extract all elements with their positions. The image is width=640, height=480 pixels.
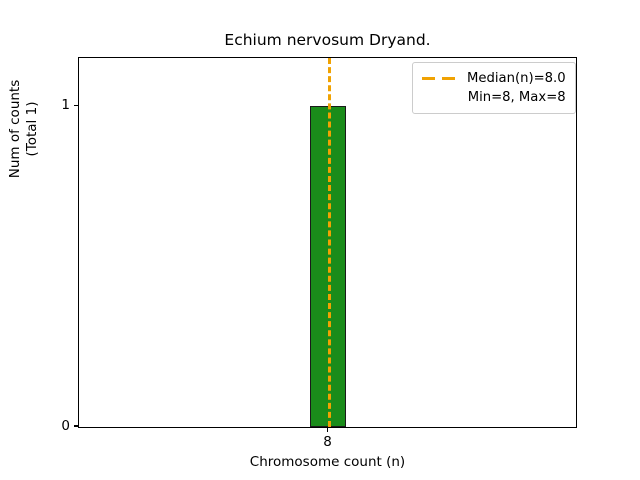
median-line — [328, 58, 331, 427]
y-axis-label-line1: Num of counts — [7, 0, 24, 259]
ytick-label-1: 1 — [56, 97, 70, 113]
xtick-label-8: 8 — [323, 434, 332, 450]
chart-figure: Echium nervosum Dryand. 0 1 8 Chromosome… — [0, 0, 640, 480]
page-title: Echium nervosum Dryand. — [78, 30, 577, 50]
legend-dashed-line-icon — [422, 70, 458, 87]
y-axis-label: Num of counts (Total 1) — [7, 0, 41, 259]
ytick-label-0: 0 — [56, 418, 70, 434]
legend-entry-minmax: Min=8, Max=8 — [467, 88, 566, 107]
y-axis-label-line2: (Total 1) — [24, 0, 41, 259]
legend-text: Median(n)=8.0 Min=8, Max=8 — [467, 69, 566, 107]
x-axis-label: Chromosome count (n) — [78, 454, 577, 470]
xtick-mark-8 — [327, 428, 328, 432]
legend-entry-median: Median(n)=8.0 — [467, 69, 566, 88]
legend: Median(n)=8.0 Min=8, Max=8 — [412, 62, 576, 114]
